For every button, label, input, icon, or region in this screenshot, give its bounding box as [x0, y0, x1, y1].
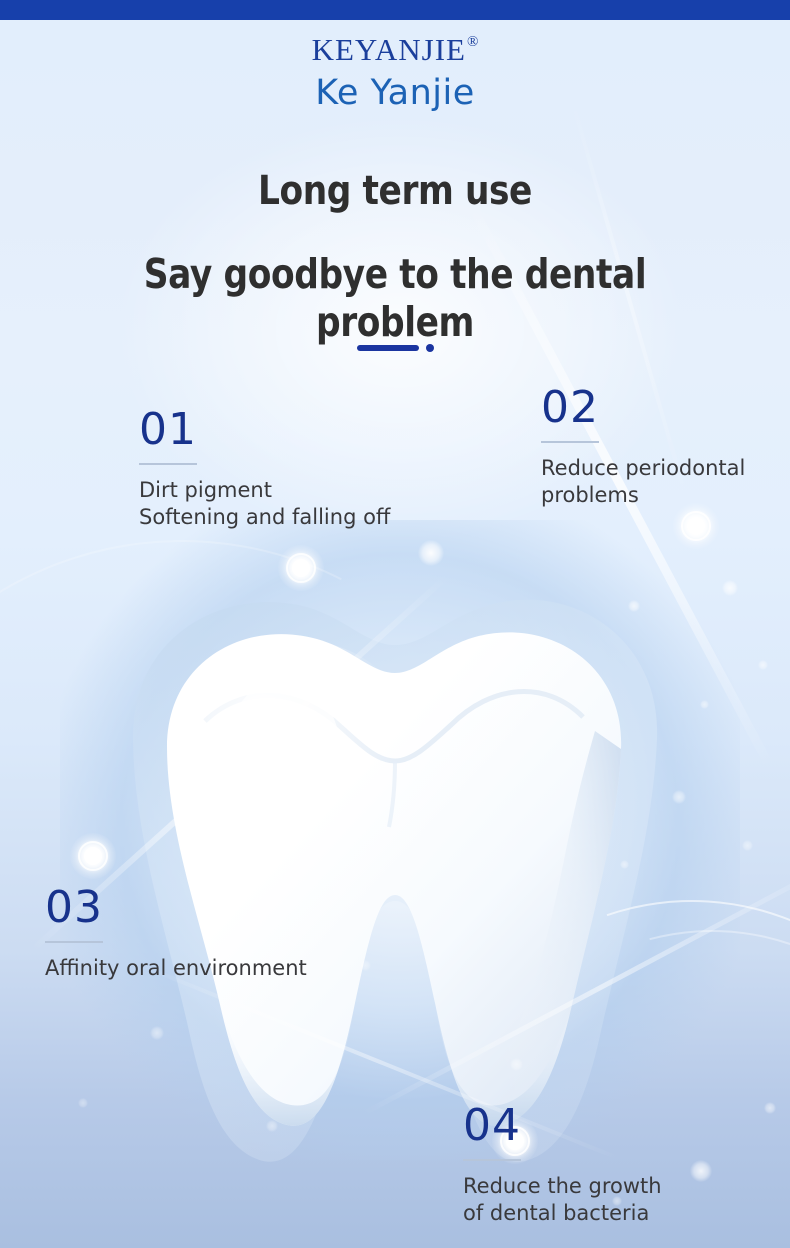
product-poster: KEYANJIE® Ke Yanjie Long term use Say go…: [0, 0, 790, 1248]
registered-trademark-icon: ®: [467, 34, 479, 50]
feature-description-line: Dirt pigment: [139, 477, 390, 504]
top-accent-bar: [0, 0, 790, 20]
headline-secondary: Say goodbye to the dental problem: [63, 250, 727, 346]
feature-description: Affinity oral environment: [45, 955, 307, 982]
feature-item-03: 03 Affinity oral environment: [45, 886, 307, 982]
divider-dot: [426, 344, 434, 352]
feature-rule: [45, 941, 103, 943]
feature-rule: [541, 441, 599, 443]
feature-description-line: of dental bacteria: [463, 1200, 662, 1227]
brand-name-en-text: KEYANJIE: [312, 32, 466, 67]
feature-description-line: Affinity oral environment: [45, 955, 307, 982]
headline-primary: Long term use: [55, 168, 734, 214]
feature-rule: [139, 463, 197, 465]
feature-description-line: Reduce the growth: [463, 1173, 662, 1200]
feature-item-02: 02 Reduce periodontal problems: [541, 386, 745, 509]
feature-number: 01: [139, 408, 390, 452]
feature-description-line: Reduce periodontal: [541, 455, 745, 482]
feature-item-01: 01 Dirt pigment Softening and falling of…: [139, 408, 390, 531]
brand-name-en: KEYANJIE®: [312, 34, 479, 65]
divider-bar: [357, 345, 419, 351]
brand-block: KEYANJIE® Ke Yanjie: [0, 34, 790, 113]
feature-number: 04: [463, 1104, 662, 1148]
feature-item-04: 04 Reduce the growth of dental bacteria: [463, 1104, 662, 1227]
feature-number: 03: [45, 886, 307, 930]
feature-rule: [463, 1159, 521, 1161]
feature-description: Reduce the growth of dental bacteria: [463, 1173, 662, 1227]
brand-name-sub: Ke Yanjie: [0, 74, 790, 113]
feature-description: Dirt pigment Softening and falling off: [139, 477, 390, 531]
feature-description: Reduce periodontal problems: [541, 455, 745, 509]
feature-description-line: problems: [541, 482, 745, 509]
feature-number: 02: [541, 386, 745, 430]
section-divider: [0, 344, 790, 352]
feature-description-line: Softening and falling off: [139, 504, 390, 531]
